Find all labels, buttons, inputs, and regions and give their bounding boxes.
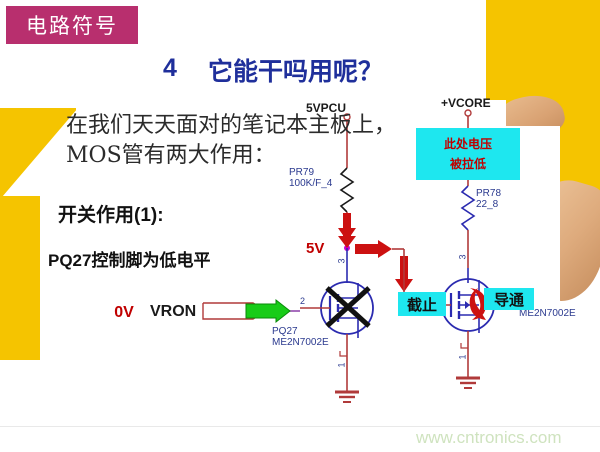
callout-line-1: 此处电压 <box>444 134 492 154</box>
pin-number-pq28-source: 1 <box>458 354 468 359</box>
pq27-condition-note: PQ27控制脚为低电平 <box>48 246 210 271</box>
net-label-5vpcu: 5VPCU <box>306 101 346 115</box>
body-text-line-1: 在我们天天面对的笔记本主板上， <box>66 107 396 139</box>
slide-canvas: 电路符号 4 它能干吗用呢？ 在我们天天面对的笔记本主板上， MOS管有两大作用… <box>0 0 600 452</box>
section-badge-label: 电路符号 <box>26 10 118 40</box>
zero-volt-badge: 0V <box>104 301 144 324</box>
vron-net-label: VRON <box>150 303 196 321</box>
zero-volt-label: 0V <box>114 304 134 322</box>
body-text-line-2: MOS管有两大作用： <box>66 137 276 169</box>
pr78-ref: PR78 <box>476 188 501 199</box>
net-label-vcore: +VCORE <box>441 96 491 110</box>
section-badge: 电路符号 <box>6 6 138 44</box>
pin-number-pq27-source: 1 <box>337 362 347 367</box>
pr79-ref: PR79 <box>289 167 332 178</box>
page-title: 它能干吗用呢？ <box>208 52 383 88</box>
five-volt-node-label: 5V <box>306 240 324 257</box>
pr79-value: 100K/F_4 <box>289 178 332 189</box>
cutoff-label: 截止 <box>407 294 437 315</box>
site-watermark: www.cntronics.com <box>416 428 561 448</box>
pq27-ref: PQ27 <box>272 326 329 337</box>
mosfet-state-cutoff-badge: 截止 <box>398 292 446 316</box>
component-label-pr78: PR78 22_8 <box>476 188 501 210</box>
conduct-label: 导通 <box>494 289 524 310</box>
pin-number-pq27-gate: 2 <box>300 296 305 306</box>
voltage-pulled-low-callout: 此处电压 被拉低 <box>416 128 520 180</box>
pin-number-pq28-drain: 3 <box>458 254 468 259</box>
pq27-value: ME2N7002E <box>272 337 329 348</box>
slide-number: 4 <box>163 54 177 83</box>
component-label-pq27: PQ27 ME2N7002E <box>272 326 329 348</box>
pr78-value: 22_8 <box>476 199 501 210</box>
mosfet-state-conduct-badge: 导通 <box>484 288 534 310</box>
component-label-pr79: PR79 100K/F_4 <box>289 167 332 189</box>
switch-role-heading: 开关作用(1): <box>58 200 164 227</box>
callout-line-2: 被拉低 <box>450 154 486 174</box>
pin-number-pq27-drain: 3 <box>337 258 347 263</box>
